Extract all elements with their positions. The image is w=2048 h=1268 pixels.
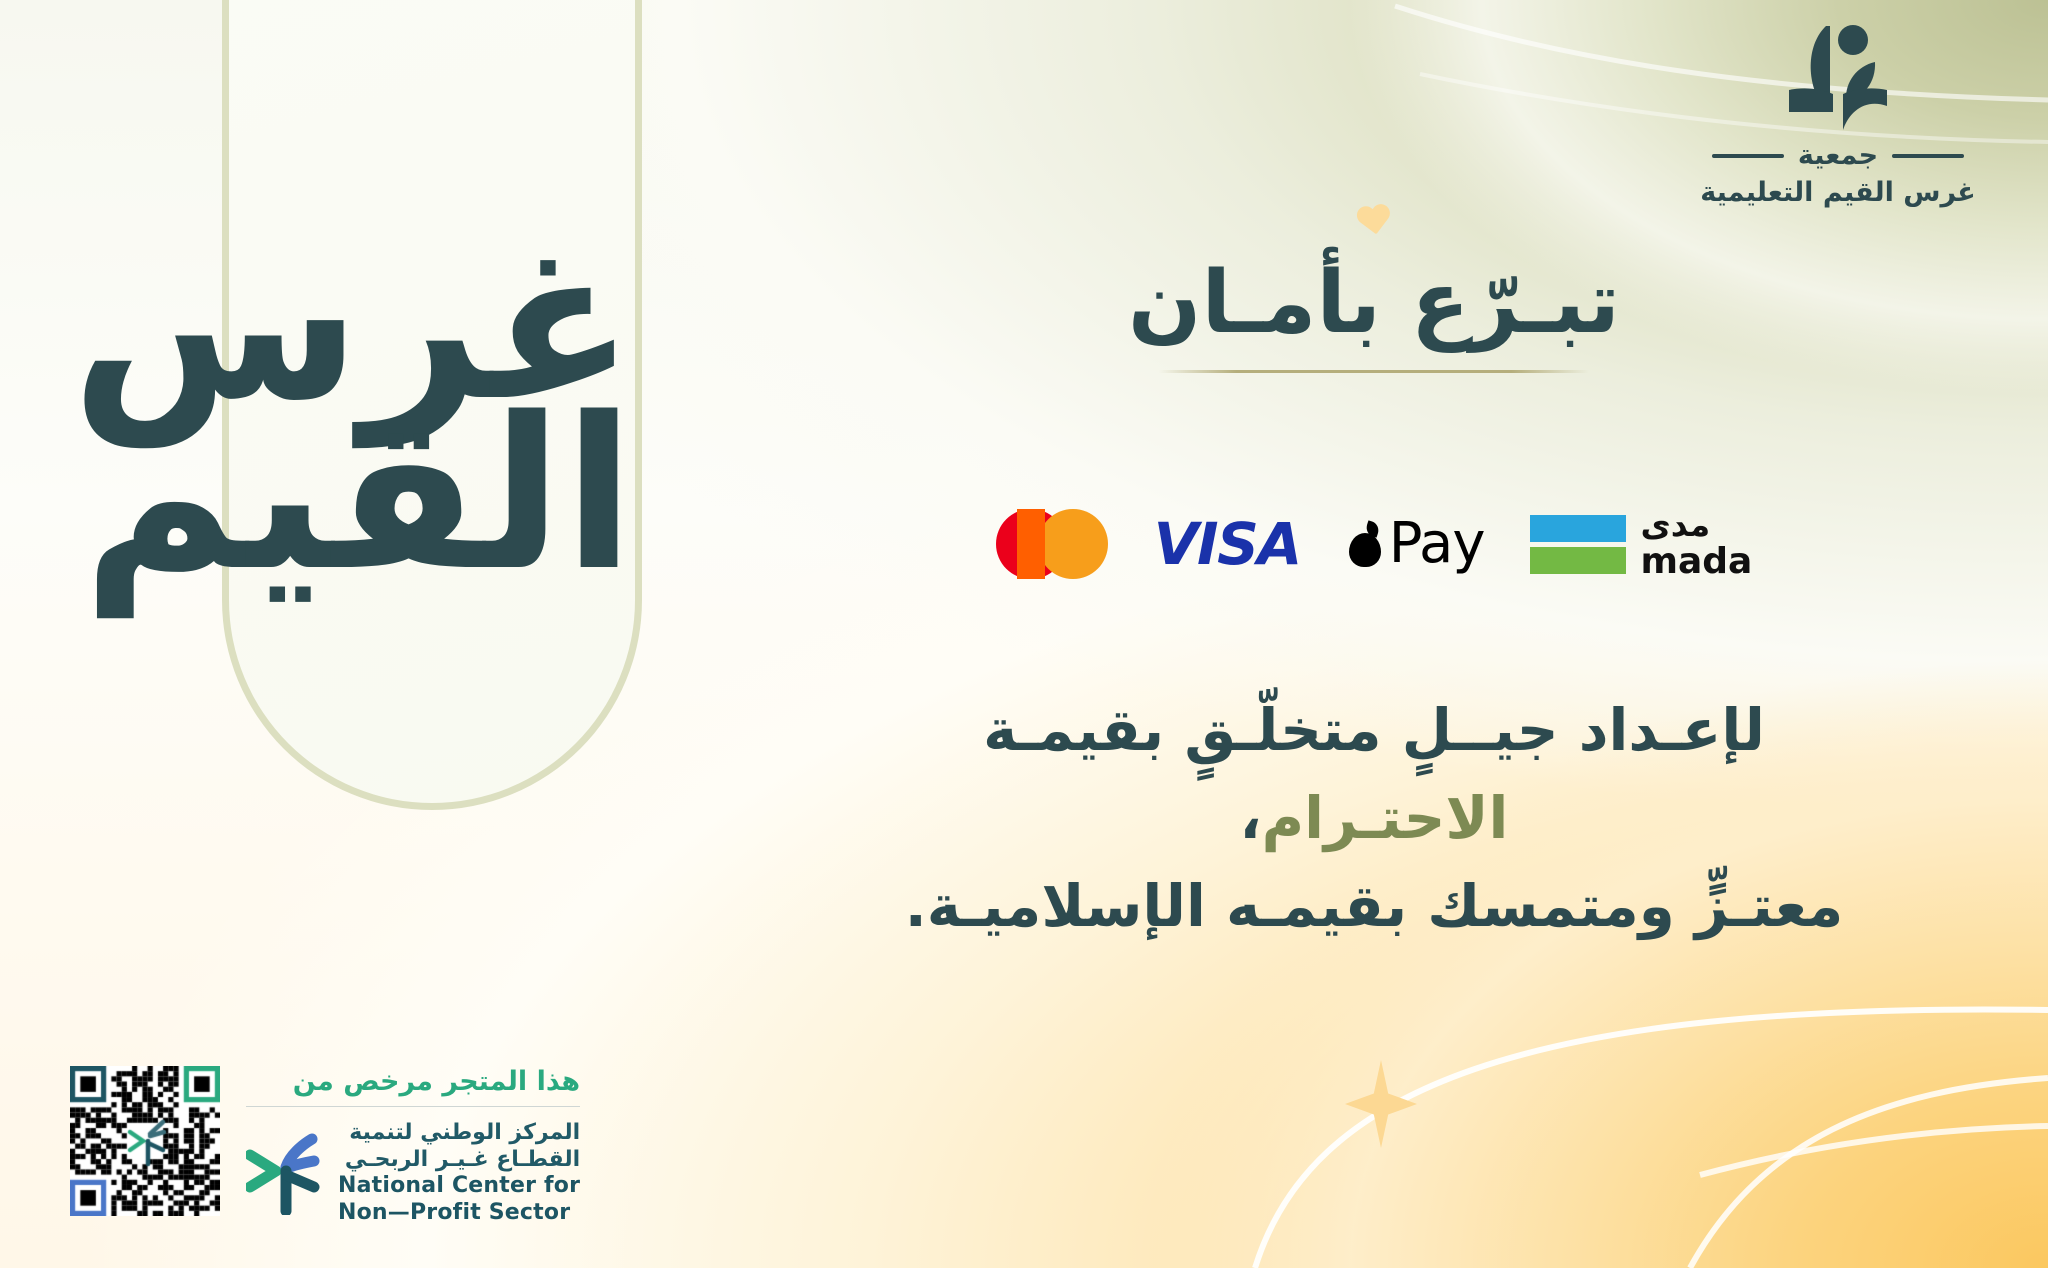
payment-mada: مدى mada bbox=[1530, 508, 1752, 580]
ncnp-name-en-2: Non—Profit Sector bbox=[338, 1200, 580, 1226]
visa-icon: VISA bbox=[1154, 510, 1301, 578]
payment-mastercard bbox=[996, 509, 1108, 579]
apple-pay-label: Pay bbox=[1389, 516, 1485, 572]
mada-label-en: mada bbox=[1640, 544, 1752, 580]
ncnp-block: المركز الوطني لتنمية القطـاع غـيـر الربح… bbox=[246, 1120, 580, 1226]
ncnp-star-icon bbox=[246, 1131, 320, 1215]
licence-top-text: هذا المتجر مرخص من bbox=[246, 1066, 580, 1106]
ncnp-name-ar-1: المركز الوطني لتنمية bbox=[338, 1120, 580, 1146]
body-line-2: الاحتـرام، bbox=[740, 774, 2008, 862]
body-line-2-suffix: ، bbox=[1240, 784, 1262, 852]
headline-text: تبـرّع بأمـان bbox=[1128, 253, 1620, 353]
heart-icon bbox=[1355, 204, 1393, 240]
mastercard-icon bbox=[996, 509, 1108, 579]
brand-panel: غرس القيم bbox=[222, 0, 642, 810]
mada-bars bbox=[1530, 515, 1626, 574]
licence-divider bbox=[246, 1106, 580, 1107]
apple-pay-icon: Pay bbox=[1347, 516, 1485, 572]
body-line-2-highlight: الاحتـرام bbox=[1262, 784, 1509, 852]
headline-block: تبـرّع بأمـان bbox=[700, 258, 2048, 373]
headline: تبـرّع بأمـان bbox=[1128, 258, 1620, 348]
main-content: تبـرّع بأمـان VISA bbox=[700, 0, 2048, 1268]
brand-word-line2: القيم bbox=[229, 390, 635, 600]
mada-icon: مدى mada bbox=[1530, 508, 1752, 580]
promo-banner: غرس القيم جمعية غرس القيم التعليمية bbox=[0, 0, 2048, 1268]
licence-block: هذا المتجر مرخص من المركز الوطني لتنمية … bbox=[70, 1066, 580, 1226]
payment-methods-row: VISA Pay مدى ma bbox=[700, 508, 2048, 580]
mada-label-ar: مدى bbox=[1640, 508, 1710, 541]
mada-wordmark: مدى mada bbox=[1640, 508, 1752, 580]
headline-divider bbox=[1159, 370, 1589, 373]
payment-visa: VISA bbox=[1154, 510, 1301, 578]
body-copy: لإعـداد جيــلٍ متخلّـقٍ بقيمـة الاحتـرام… bbox=[740, 686, 2008, 950]
payment-apple-pay: Pay bbox=[1347, 516, 1485, 572]
apple-logo-icon bbox=[1347, 521, 1383, 567]
licence-text-block: هذا المتجر مرخص من المركز الوطني لتنمية … bbox=[246, 1066, 580, 1226]
ncnp-text: المركز الوطني لتنمية القطـاع غـيـر الربح… bbox=[338, 1120, 580, 1226]
ncnp-name-ar-2: القطـاع غـيـر الربحـي bbox=[338, 1147, 580, 1173]
qr-code-icon[interactable] bbox=[70, 1066, 220, 1216]
body-line-3: معتـزٍّ ومتمسك بقيمـه الإسلاميـة. bbox=[740, 862, 2008, 950]
ncnp-name-en-1: National Center for bbox=[338, 1173, 580, 1199]
body-line-1: لإعـداد جيــلٍ متخلّـقٍ بقيمـة bbox=[740, 686, 2008, 774]
